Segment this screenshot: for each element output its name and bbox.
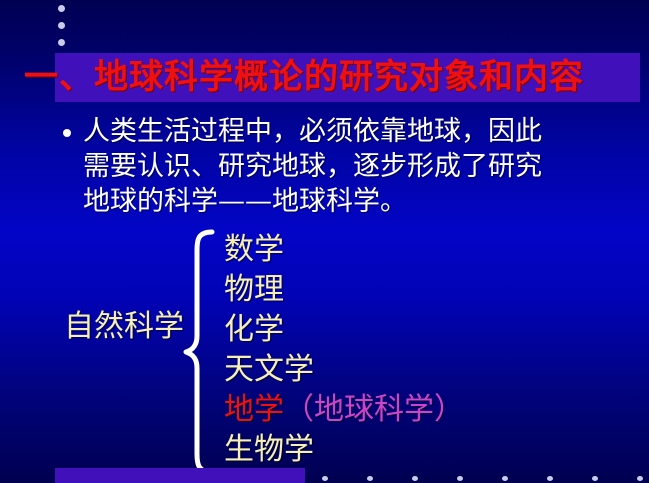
category-label: 自然科学 [64,309,184,345]
bullet-dot-icon [58,22,65,29]
list-item-paren: （地球科学） [284,392,464,427]
list-item: 数学 [224,230,554,270]
bullet-dot-icon [412,476,418,481]
bullet-dot-icon [547,476,553,481]
bullet-dot-icon [58,5,65,12]
list-item-label: 地学 [224,392,284,427]
list-item-label: 生物学 [224,432,314,467]
footer-dotted-rule [322,476,649,483]
list-item-label: 物理 [224,272,284,307]
list-item-label: 天文学 [224,352,314,387]
list-item: 化学 [224,310,554,350]
bullet-dot-icon [502,476,508,481]
bullet-dot-icon [322,476,328,481]
bullet-dot-icon [457,476,463,481]
bullet-dot-icon [592,476,598,481]
bullet-dot-icon [367,476,373,481]
footer-band [55,468,305,483]
body-line: 人类生活过程中，必须依靠地球，因此 [83,114,623,149]
list-item: 天文学 [224,350,554,390]
subject-list: 数学 物理 化学 天文学 地学（地球科学） 生物学 [224,230,554,470]
slide-canvas: 一、地球科学概论的研究对象和内容 人类生活过程中，必须依靠地球，因此 需要认识、… [0,0,649,483]
top-decorative-dots [58,5,72,56]
list-item: 生物学 [224,430,554,470]
bullet-dot-icon [58,39,65,46]
list-item-label: 化学 [224,312,284,347]
curly-brace-icon [182,228,216,476]
body-paragraph: 人类生活过程中，必须依靠地球，因此 需要认识、研究地球，逐步形成了研究 地球的科… [83,114,623,219]
body-line: 地球的科学——地球科学。 [83,184,623,219]
body-line: 需要认识、研究地球，逐步形成了研究 [83,149,623,184]
bullet-dot-icon [637,476,643,481]
body-bullet-dot-icon [63,129,71,137]
page-title: 一、地球科学概论的研究对象和内容 [24,52,649,102]
list-item-label: 数学 [224,232,284,267]
list-item-highlighted: 地学（地球科学） [224,390,554,430]
list-item: 物理 [224,270,554,310]
